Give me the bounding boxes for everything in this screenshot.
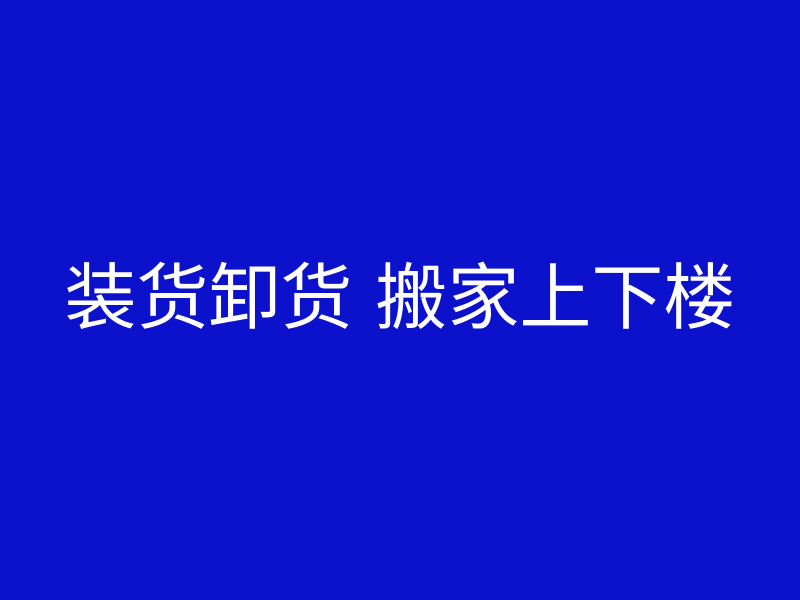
banner-canvas: 装货卸货 搬家上下楼: [0, 0, 800, 600]
headline-text: 装货卸货 搬家上下楼: [65, 262, 736, 334]
